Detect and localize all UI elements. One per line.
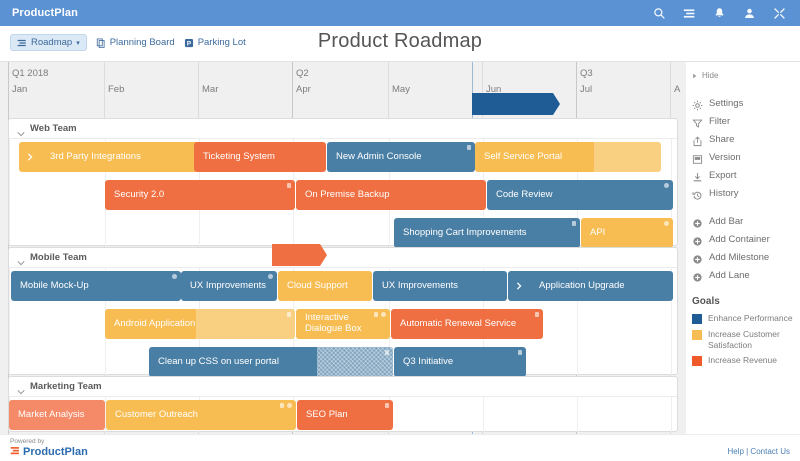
bar-label: Android Application	[105, 319, 201, 330]
lane-title: Marketing Team	[30, 381, 102, 392]
bar-label: On Premise Backup	[296, 190, 395, 201]
planning-board-icon	[96, 38, 106, 48]
plus-circle-icon	[692, 252, 703, 263]
tab-roadmap-label: Roadmap	[31, 37, 72, 48]
footer-brand-label: ProductPlan	[23, 446, 88, 458]
bar-label: Clean up CSS on user portal	[149, 357, 285, 368]
bar-marker-icons	[280, 403, 292, 408]
svg-text:P: P	[187, 40, 191, 47]
lane-mobile-team[interactable]: Mobile TeamMobile Mock-UpUX Improvements…	[8, 247, 678, 375]
roadmap-bar[interactable]: API	[581, 218, 673, 248]
goal-legend-item[interactable]: Increase Customer Satisfaction	[692, 329, 800, 350]
lane-header[interactable]: Web Team	[9, 119, 677, 139]
lane-web-team[interactable]: Web Team3rd Party IntegrationsTicketing …	[8, 118, 678, 246]
bar-label: Mobile Mock-Up	[11, 281, 95, 292]
productplan-mark-icon	[10, 445, 21, 459]
timeline-quarter-label: Q1 2018	[12, 68, 48, 79]
roadmap-bar[interactable]: Shopping Cart Improvements	[394, 218, 580, 248]
panel-menu-item-label: Add Bar	[709, 216, 743, 227]
bar-marker-icons	[572, 221, 576, 226]
lane-body: 3rd Party IntegrationsTicketing SystemNe…	[9, 139, 677, 246]
parking-lot-icon: P	[184, 38, 194, 48]
roadmap-bar[interactable]: Ticketing System	[194, 142, 326, 172]
roadmap-bar[interactable]: Interactive Dialogue Box	[296, 309, 390, 339]
bar-label: SEO Plan	[297, 410, 354, 421]
lane-title: Mobile Team	[30, 252, 87, 263]
bar-marker-icons	[664, 221, 669, 226]
bar-label: 3rd Party Integrations	[41, 152, 147, 163]
goal-label: Increase Revenue	[708, 355, 777, 366]
history-icon	[692, 188, 703, 199]
panel-menu-item-settings[interactable]: Settings	[692, 94, 800, 112]
lane-body: Mobile Mock-UpUX ImprovementsCloud Suppo…	[9, 268, 677, 375]
goals-legend: Enhance PerformanceIncrease Customer Sat…	[692, 313, 800, 366]
hide-panel-button[interactable]: Hide	[692, 66, 800, 84]
tab-roadmap[interactable]: Roadmap ▾	[10, 34, 87, 51]
roadmap-bar[interactable]: Android Application	[105, 309, 295, 339]
tab-planning-board[interactable]: Planning Board	[96, 37, 175, 48]
gear-icon	[692, 98, 703, 109]
roadmap-icon	[17, 38, 27, 48]
bar-progress-overlay	[594, 142, 661, 172]
bar-label: Ticketing System	[194, 152, 281, 163]
bar-marker-icons	[287, 183, 291, 188]
roadmap-bar[interactable]: 3rd Party Integrations	[19, 142, 203, 172]
panel-menu-item-label: History	[709, 188, 739, 199]
footer-links[interactable]: Help | Contact Us	[727, 447, 790, 456]
search-icon[interactable]	[653, 7, 666, 20]
lane-header[interactable]: Marketing Team	[9, 377, 677, 397]
roadmap-bar[interactable]: Mobile Mock-Up	[11, 271, 181, 301]
panel-menu-item-label: Settings	[709, 98, 743, 109]
roadmap-bar[interactable]: UX Improvements	[373, 271, 507, 301]
milestone-release[interactable]: ReleaseMar 24, 2018	[272, 244, 320, 266]
plus-circle-icon	[692, 216, 703, 227]
download-icon	[692, 170, 703, 181]
share-icon	[692, 134, 703, 145]
roadmap-bar[interactable]: New Admin Console	[327, 142, 475, 172]
top-bar-icon-group	[653, 7, 800, 20]
panel-menu-item-label: Add Milestone	[709, 252, 769, 263]
panel-menu-item-label: Share	[709, 134, 734, 145]
bar-label: UX Improvements	[181, 281, 272, 292]
panel-menu-item-label: Export	[709, 170, 736, 181]
chevron-down-icon[interactable]	[17, 125, 25, 133]
bar-marker-icons	[268, 274, 273, 279]
goals-heading: Goals	[692, 296, 800, 307]
right-side-panel: Hide SettingsFilterShareVersionExportHis…	[686, 62, 800, 434]
plus-circle-icon	[692, 270, 703, 281]
goal-legend-item[interactable]: Increase Revenue	[692, 355, 800, 366]
notifications-bell-icon[interactable]	[713, 7, 726, 20]
account-icon[interactable]	[743, 7, 756, 20]
goal-color-swatch	[692, 330, 702, 340]
timeline-month-label: Jul	[580, 84, 592, 95]
roadmap-bar[interactable]: SEO Plan	[297, 400, 393, 430]
goal-label: Enhance Performance	[708, 313, 793, 324]
roadmap-bar[interactable]: Customer Outreach	[106, 400, 296, 430]
tab-parking-lot[interactable]: P Parking Lot	[184, 37, 246, 48]
bar-marker-icons	[385, 403, 389, 408]
panel-menu-item-add-lane[interactable]: Add Lane	[692, 266, 800, 284]
bar-marker-icons	[518, 350, 522, 355]
bar-label: Cloud Support	[278, 281, 354, 292]
roadmap-bar[interactable]: Clean up CSS on user portal	[149, 347, 393, 377]
roadmap-bar[interactable]: Market Analysis	[9, 400, 105, 430]
footer: Powered by ProductPlan Help | Contact Us	[0, 434, 800, 461]
chevron-down-icon[interactable]	[17, 254, 25, 262]
panel-menu-item-filter[interactable]: Filter	[692, 112, 800, 130]
bar-progress-overlay	[196, 309, 295, 339]
bar-label: API	[581, 228, 611, 239]
timeline-quarter-label: Q2	[296, 68, 309, 79]
powered-by-block: Powered by ProductPlan	[10, 438, 88, 459]
roadmap-bar[interactable]: Q3 Initiative	[394, 347, 526, 377]
bar-label: Self Service Portal	[475, 152, 568, 163]
powered-by-label: Powered by	[10, 438, 88, 445]
funnel-icon	[692, 116, 703, 127]
roadmap-bar[interactable]: Code Review	[487, 180, 673, 210]
panel-menu-item-label: Add Container	[709, 234, 770, 245]
roadmap-bar[interactable]: Self Service Portal	[475, 142, 661, 172]
bar-marker-icons	[535, 312, 539, 317]
bar-label: Code Review	[487, 190, 559, 201]
panel-menu-add: Add BarAdd ContainerAdd MilestoneAdd Lan…	[692, 212, 800, 284]
roadmap-bar[interactable]: Automatic Renewal Service	[391, 309, 543, 339]
expand-chevron-icon[interactable]	[19, 142, 41, 172]
bar-label: Automatic Renewal Service	[391, 319, 522, 330]
bar-label: UX Improvements	[373, 281, 464, 292]
panel-menu-primary: SettingsFilterShareVersionExportHistory	[692, 94, 800, 202]
bar-marker-icons	[664, 183, 669, 188]
timeline-month-label: Apr	[296, 84, 311, 95]
productplan-roadmap-app: ProductPlan Product Roadmap	[0, 0, 800, 461]
lane-header[interactable]: Mobile Team	[9, 248, 677, 268]
panel-menu-item-add-milestone[interactable]: Add Milestone	[692, 248, 800, 266]
expand-chevron-icon[interactable]	[508, 271, 530, 301]
timeline-month-label: Mar	[202, 84, 218, 95]
bar-label: Market Analysis	[9, 410, 91, 421]
panel-menu-item-label: Filter	[709, 116, 730, 127]
chevron-down-icon[interactable]	[17, 383, 25, 391]
lane-body: Market AnalysisCustomer OutreachSEO Plan	[9, 397, 677, 432]
roadmap-bar[interactable]: On Premise Backup	[296, 180, 486, 210]
bar-marker-icons	[385, 350, 389, 355]
view-switcher: Roadmap ▾ Planning Board P Parking Lot	[10, 34, 246, 51]
panel-menu-item-add-container[interactable]: Add Container	[692, 230, 800, 248]
bar-label: Shopping Cart Improvements	[394, 228, 533, 239]
timeline-month-label: May	[392, 84, 410, 95]
milestone-date: Mar 24, 2018	[277, 254, 315, 261]
milestone-date: May 27, 2018	[477, 103, 548, 110]
milestone-company-all-hands[interactable]: Company All HandsMay 27, 2018	[472, 93, 553, 115]
productplan-logo[interactable]: ProductPlan	[0, 7, 78, 19]
timeline-month-label: A	[674, 84, 680, 95]
panel-menu-item-label: Version	[709, 152, 741, 163]
timeline-month-label: Jan	[12, 84, 27, 95]
timeline-month-label: Feb	[108, 84, 124, 95]
bar-label: Application Upgrade	[530, 281, 631, 292]
panel-menu-item-label: Add Lane	[709, 270, 750, 281]
tab-planning-board-label: Planning Board	[110, 37, 175, 48]
bar-marker-icons	[467, 145, 471, 150]
roadmap-bar[interactable]: Security 2.0	[105, 180, 295, 210]
bar-marker-icons	[172, 274, 177, 279]
panel-menu-item-version[interactable]: Version	[692, 148, 800, 166]
goal-label: Increase Customer Satisfaction	[708, 329, 800, 350]
goal-color-swatch	[692, 314, 702, 324]
top-navigation-bar: ProductPlan	[0, 0, 800, 26]
panel-menu-item-add-bar[interactable]: Add Bar	[692, 212, 800, 230]
chevron-right-icon	[692, 66, 698, 84]
goal-color-swatch	[692, 356, 702, 366]
goal-legend-item[interactable]: Enhance Performance	[692, 313, 800, 324]
bar-marker-icons	[287, 312, 291, 317]
bar-label: Customer Outreach	[106, 410, 204, 421]
hide-panel-label: Hide	[702, 71, 718, 80]
panel-menu-item-history[interactable]: History	[692, 184, 800, 202]
plus-circle-icon	[692, 234, 703, 245]
footer-productplan-logo[interactable]: ProductPlan	[10, 445, 88, 459]
bar-label: New Admin Console	[327, 152, 428, 163]
bar-label: Security 2.0	[105, 190, 170, 201]
fullscreen-icon[interactable]	[773, 7, 786, 20]
roadmaps-icon[interactable]	[683, 7, 696, 20]
roadmap-canvas[interactable]: Q1 2018Q2Q3 JanFebMarAprMayJunJulA Web T…	[0, 62, 686, 434]
chevron-down-icon: ▾	[76, 39, 80, 47]
roadmap-bar[interactable]: Application Upgrade	[508, 271, 673, 301]
version-icon	[692, 152, 703, 163]
roadmap-bar[interactable]: Cloud Support	[278, 271, 372, 301]
lane-title: Web Team	[30, 123, 77, 134]
bar-marker-icons	[374, 312, 386, 317]
lane-marketing-team[interactable]: Marketing TeamMarket AnalysisCustomer Ou…	[8, 376, 678, 432]
timeline-quarter-label: Q3	[580, 68, 593, 79]
sub-navigation-bar: Product Roadmap Roadmap ▾ Planning Board…	[0, 26, 800, 62]
bar-label: Q3 Initiative	[394, 357, 459, 368]
bar-hatched-segment	[317, 347, 393, 377]
roadmap-bar[interactable]: UX Improvements	[181, 271, 277, 301]
tab-parking-lot-label: Parking Lot	[198, 37, 246, 48]
panel-menu-item-share[interactable]: Share	[692, 130, 800, 148]
panel-menu-item-export[interactable]: Export	[692, 166, 800, 184]
